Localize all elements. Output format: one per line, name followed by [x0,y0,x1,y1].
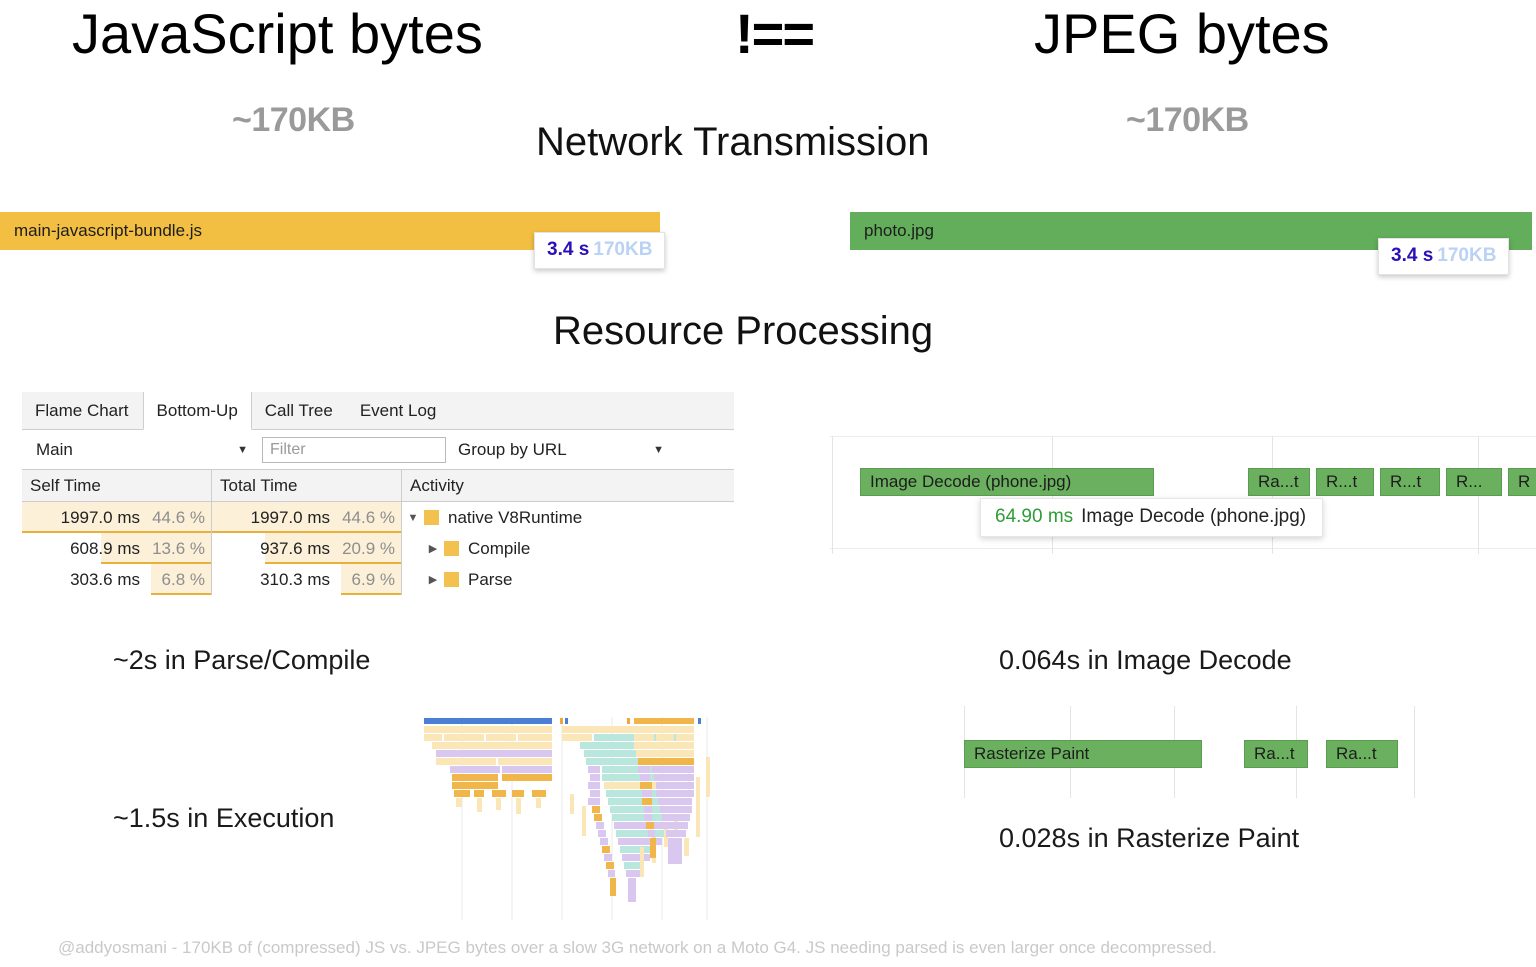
total-time-ms: 1997.0 ms [251,508,330,528]
cell-activity: ▶ Parse [402,564,734,595]
devtools-tabstrip: Flame Chart Bottom-Up Call Tree Event Lo… [22,392,734,430]
network-tooltip-size-jpg: 170KB [1437,245,1496,266]
network-tooltip-time-js: 3.4 s [547,239,589,260]
section-heading-network-transmission: Network Transmission [536,120,929,165]
chevron-down-icon: ▼ [653,444,664,456]
timeline-bar-rasterize-small[interactable]: R...t [1380,468,1440,496]
column-header-total-time[interactable]: Total Time [212,470,402,501]
grouping-dropdown-value: Group by URL [458,440,567,460]
size-label-jpeg: ~170KB [1126,101,1249,140]
self-time-percent: 44.6 % [149,508,205,528]
timeline-bar-rasterize-small[interactable]: Ra...t [1244,740,1308,768]
cell-total-time: 937.6 ms 20.9 % [212,533,402,564]
timeline-bar-label: Image Decode (phone.jpg) [870,472,1071,492]
self-time-ms: 303.6 ms [70,570,140,590]
table-row[interactable]: 1997.0 ms 44.6 % 1997.0 ms 44.6 % ▼ nati… [22,502,734,533]
tab-flame-chart[interactable]: Flame Chart [22,392,143,429]
timeline-bar-label: Ra...t [1336,744,1377,764]
timeline-gridline [1414,706,1415,798]
tab-bottom-up[interactable]: Bottom-Up [143,392,252,430]
tab-call-tree-label: Call Tree [265,401,333,421]
timeline-bar-image-decode[interactable]: Image Decode (phone.jpg) [860,468,1154,496]
tooltip-duration: 64.90 ms [995,506,1073,527]
cell-activity: ▼ native V8Runtime [402,502,734,533]
total-time-percent: 44.6 % [339,508,395,528]
scope-dropdown[interactable]: Main ▼ [28,440,256,460]
footer-caption: @addyosmani - 170KB of (compressed) JS v… [58,938,1217,958]
network-tooltip-time-jpg: 3.4 s [1391,245,1433,266]
headline-not-equal-operator: !== [735,6,813,62]
headline-jpeg-bytes: JPEG bytes [1034,6,1330,62]
timeline-top-rule [830,436,1536,437]
devtools-toolbar: Main ▼ Filter Group by URL ▼ [22,430,734,470]
table-row[interactable]: 608.9 ms 13.6 % 937.6 ms 20.9 % ▶ Compil… [22,533,734,564]
activity-label: Compile [468,539,530,559]
timeline-bar-rasterize-paint[interactable]: Rasterize Paint [964,740,1202,768]
cell-self-time: 1997.0 ms 44.6 % [22,502,212,533]
headline-javascript-bytes: JavaScript bytes [72,6,483,62]
cell-self-time: 608.9 ms 13.6 % [22,533,212,564]
timeline-bar-label: R [1518,472,1530,492]
timeline-bar-label: R...t [1390,472,1421,492]
tab-event-log-label: Event Log [360,401,437,421]
image-decode-tooltip: 64.90 msImage Decode (phone.jpg) [980,498,1323,537]
tab-flame-chart-label: Flame Chart [35,401,129,421]
expander-triangle-icon[interactable]: ▼ [402,512,424,524]
activity-color-swatch-icon [444,572,459,587]
self-time-ms: 608.9 ms [70,539,140,559]
filter-input[interactable]: Filter [262,437,446,463]
devtools-performance-panel: Flame Chart Bottom-Up Call Tree Event Lo… [22,392,734,595]
self-time-percent: 13.6 % [149,539,205,559]
tab-event-log[interactable]: Event Log [347,392,451,429]
annotation-execution: ~1.5s in Execution [113,803,334,834]
activity-color-swatch-icon [444,541,459,556]
flame-chart-thumbnail[interactable] [422,717,732,920]
activity-label: native V8Runtime [448,508,582,528]
activity-label: Parse [468,570,512,590]
timeline-bar-label: R... [1456,472,1482,492]
timeline-bar-rasterize-small[interactable]: R... [1446,468,1502,496]
network-tooltip-jpeg: 3.4 s170KB [1378,238,1509,275]
timeline-gridline [832,436,833,554]
rasterize-paint-timeline: Rasterize Paint Ra...t Ra...t [948,706,1448,798]
timeline-bar-rasterize-small[interactable]: R [1508,468,1536,496]
timeline-bar-label: Rasterize Paint [974,744,1089,764]
table-header-row: Self Time Total Time Activity [22,470,734,502]
cell-total-time: 1997.0 ms 44.6 % [212,502,402,533]
timeline-bar-rasterize-small[interactable]: Ra...t [1326,740,1398,768]
table-row[interactable]: 303.6 ms 6.8 % 310.3 ms 6.9 % ▶ Parse [22,564,734,595]
self-time-ms: 1997.0 ms [61,508,140,528]
size-label-javascript: ~170KB [232,101,355,140]
expander-triangle-icon[interactable]: ▶ [422,573,444,586]
slide-canvas: JavaScript bytes !== JPEG bytes ~170KB ~… [0,0,1536,967]
scope-dropdown-value: Main [36,440,73,460]
timeline-bar-rasterize-small[interactable]: R...t [1316,468,1374,496]
chevron-down-icon: ▼ [237,444,248,456]
network-tooltip-size-js: 170KB [593,239,652,260]
timeline-bar-label: Ra...t [1254,744,1295,764]
total-time-ms: 310.3 ms [260,570,330,590]
column-header-self-time[interactable]: Self Time [22,470,212,501]
section-heading-resource-processing: Resource Processing [553,309,933,354]
self-time-percent: 6.8 % [149,570,205,590]
total-time-percent: 20.9 % [339,539,395,559]
timeline-bar-label: Ra...t [1258,472,1299,492]
network-bar-filename-jpg: photo.jpg [864,221,934,241]
annotation-parse-compile: ~2s in Parse/Compile [113,645,370,676]
column-header-activity[interactable]: Activity [402,470,734,501]
annotation-image-decode: 0.064s in Image Decode [999,645,1292,676]
timeline-bottom-rule [830,548,1536,549]
cell-self-time: 303.6 ms 6.8 % [22,564,212,595]
tooltip-activity-name: Image Decode (phone.jpg) [1081,506,1306,527]
cell-activity: ▶ Compile [402,533,734,564]
timeline-bar-rasterize-small[interactable]: Ra...t [1248,468,1310,496]
activity-color-swatch-icon [424,510,439,525]
timeline-bar-label: R...t [1326,472,1357,492]
tab-call-tree[interactable]: Call Tree [252,392,347,429]
cell-total-time: 310.3 ms 6.9 % [212,564,402,595]
expander-triangle-icon[interactable]: ▶ [422,542,444,555]
tab-bottom-up-label: Bottom-Up [157,401,238,421]
total-time-ms: 937.6 ms [260,539,330,559]
total-time-percent: 6.9 % [339,570,395,590]
filter-input-placeholder: Filter [270,441,306,459]
image-decode-timeline: Image Decode (phone.jpg) Ra...t R...t R.… [830,436,1536,554]
network-tooltip-javascript: 3.4 s170KB [534,232,665,269]
flame-chart-thumbnail-graphic [422,717,732,920]
annotation-rasterize-paint: 0.028s in Rasterize Paint [999,823,1299,854]
grouping-dropdown[interactable]: Group by URL ▼ [458,440,678,460]
network-bar-filename-js: main-javascript-bundle.js [14,221,202,241]
